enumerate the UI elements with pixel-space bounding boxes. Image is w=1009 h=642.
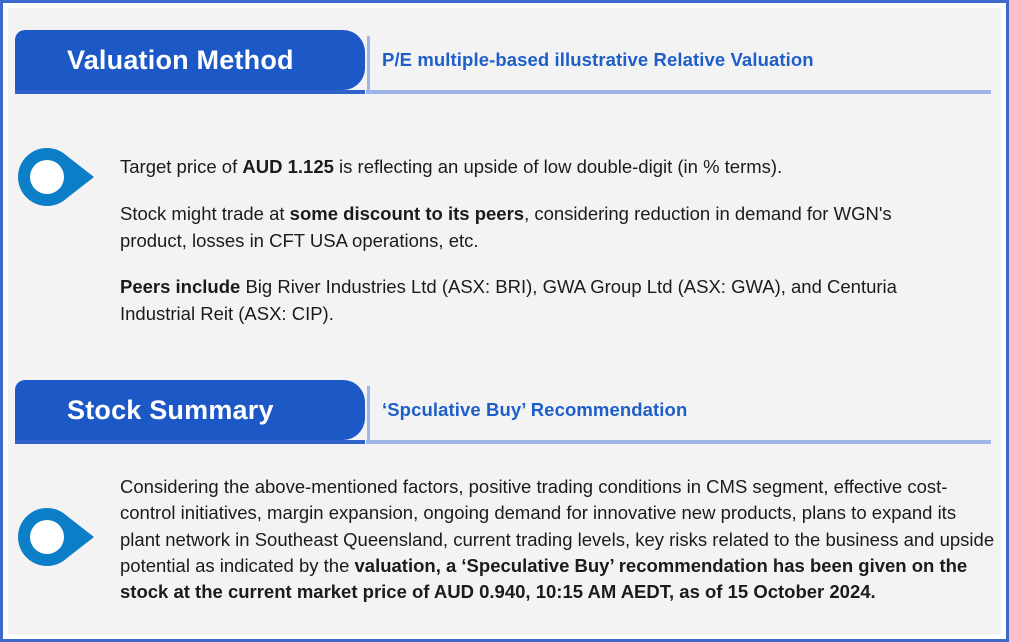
paragraph: Considering the above-mentioned factors,… [120, 474, 1000, 605]
valuation-method-tab[interactable]: Valuation Method [15, 30, 365, 90]
stock-summary-divider [366, 440, 991, 444]
pin-bullet-icon [18, 148, 96, 206]
paragraph: Stock might trade at some discount to it… [120, 201, 955, 255]
valuation-method-body: ​Target price of AUD 1.125 is reflecting… [120, 154, 955, 328]
paragraph: ​Target price of AUD 1.125 is reflecting… [120, 154, 955, 181]
run-1: AUD 1.125 [242, 156, 334, 177]
run-2: is reflecting an upside of low double-di… [334, 156, 782, 177]
run-0: Peers include [120, 276, 240, 297]
valuation-method-tab-label: Valuation Method [67, 45, 294, 76]
stock-summary-body: Considering the above-mentioned factors,… [120, 474, 1000, 605]
stock-summary-vertical-rule [367, 386, 370, 442]
stock-summary-tab-underline [15, 440, 365, 444]
pin-bullet-icon [18, 508, 96, 566]
valuation-method-header: Valuation Method P/E multiple-based illu… [8, 30, 1001, 92]
stock-summary-header: Stock Summary ‘Spculative Buy’ Recommend… [8, 380, 1001, 442]
stock-summary-subtitle: ‘Spculative Buy’ Recommendation [382, 380, 687, 440]
stock-summary-tab-label: Stock Summary [67, 395, 274, 426]
valuation-method-tab-underline [15, 90, 365, 94]
run-1: some discount to its peers [290, 203, 524, 224]
run-0: Stock might trade at [120, 203, 290, 224]
valuation-method-subtitle: P/E multiple-based illustrative Relative… [382, 30, 814, 90]
run-0: Target price of [120, 156, 242, 177]
stock-summary-tab[interactable]: Stock Summary [15, 380, 365, 440]
paragraph: Peers include Big River Industries Ltd (… [120, 274, 955, 328]
valuation-method-divider [366, 90, 991, 94]
card-inner-surface: Valuation Method P/E multiple-based illu… [8, 8, 1001, 634]
valuation-method-vertical-rule [367, 36, 370, 92]
valuation-summary-card: Valuation Method P/E multiple-based illu… [0, 0, 1009, 642]
